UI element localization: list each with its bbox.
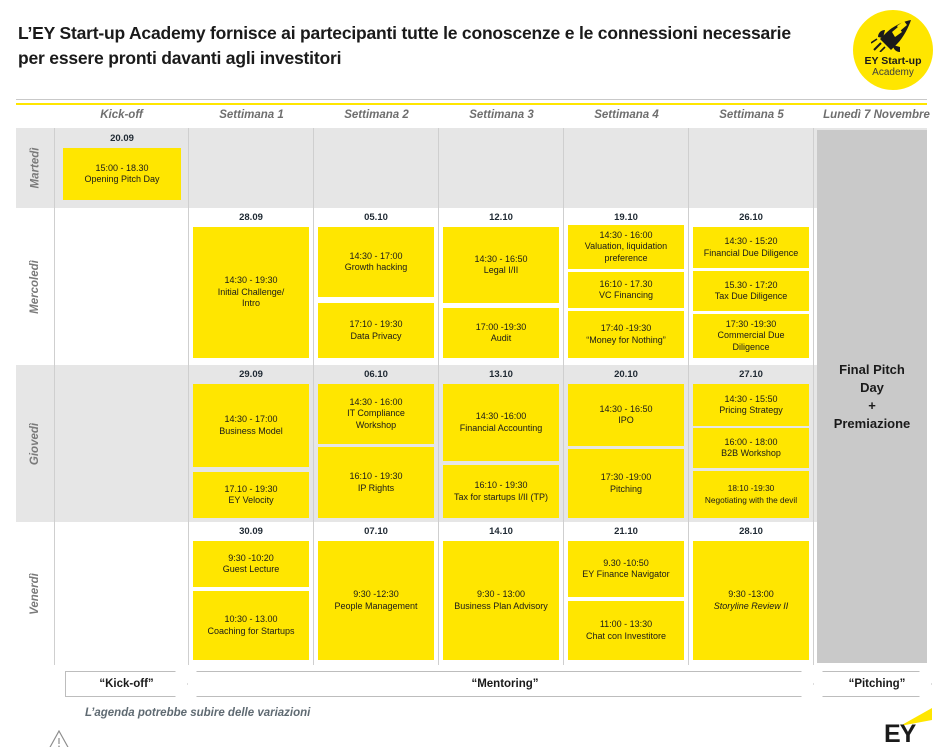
event-name: Valuation, liquidation	[585, 241, 667, 253]
event-time: 14:30 - 15:20	[724, 236, 777, 248]
event-pitching[interactable]: 17:30 -19:00 Pitching	[568, 449, 684, 518]
event-tax-due-diligence[interactable]: 15.30 - 17:20 Tax Due Diligence	[693, 271, 809, 311]
event-time: 9:30 -12:30	[353, 589, 399, 601]
schedule-grid: Martedì Mercoledì Giovedì Venerdì 20.09 …	[16, 128, 927, 665]
colhead-settimana-1: Settimana 1	[189, 106, 314, 128]
date-venerdi-w4: 21.10	[568, 525, 684, 539]
event-name: Data Privacy	[350, 331, 401, 343]
event-name: Negotiating with the devil	[705, 495, 797, 507]
event-coaching-for-startups[interactable]: 10:30 - 13.00 Coaching for Startups	[193, 591, 309, 660]
day-label-martedi-text: Martedì	[29, 148, 41, 189]
date-giovedi-w3: 13.10	[443, 368, 559, 382]
date-martedi-kickoff: 20.09	[63, 132, 181, 146]
event-name-line2: Workshop	[356, 420, 396, 432]
event-name: Coaching for Startups	[207, 626, 294, 638]
event-growth-hacking[interactable]: 14:30 - 17:00 Growth hacking	[318, 227, 434, 297]
event-time: 17:30 -19:30	[726, 319, 777, 331]
header-divider	[16, 99, 927, 100]
header: L’EY Start-up Academy fornisce ai partec…	[0, 0, 943, 100]
event-time: 15:00 - 18.30	[95, 163, 148, 175]
event-time: 16:00 - 18:00	[724, 437, 777, 449]
date-giovedi-w2: 06.10	[318, 368, 434, 382]
date-giovedi-w5: 27.10	[693, 368, 809, 382]
date-venerdi-w1: 30.09	[193, 525, 309, 539]
date-venerdi-w2: 07.10	[318, 525, 434, 539]
gridline-0	[54, 128, 55, 665]
event-money-for-nothing[interactable]: 17:40 -19:30 “Money for Nothing”	[568, 311, 684, 358]
event-time: 14:30 - 16:50	[474, 254, 527, 266]
event-ey-finance-navigator[interactable]: 9.30 -10:50 EY Finance Navigator	[568, 541, 684, 597]
event-name-line2: Intro	[242, 298, 260, 310]
event-name: Business Plan Advisory	[454, 601, 548, 613]
event-name: Tax for startups I/II (TP)	[454, 492, 548, 504]
colhead-settimana-3: Settimana 3	[439, 106, 564, 128]
event-name: Initial Challenge/	[218, 287, 285, 299]
event-financial-accounting[interactable]: 14:30 -16:00 Financial Accounting	[443, 384, 559, 461]
agenda-disclaimer: L’agenda potrebbe subire delle variazion…	[85, 707, 310, 719]
event-name: Financial Due Diligence	[704, 248, 799, 260]
event-name: Commercial Due	[717, 330, 784, 342]
final-pitch-day-text: Final Pitch Day + Premiazione	[834, 361, 911, 433]
event-time: 17:10 - 19:30	[349, 319, 402, 331]
event-ip-rights[interactable]: 16:10 - 19:30 IP Rights	[318, 447, 434, 518]
event-time: 16:10 - 19:30	[349, 471, 402, 483]
event-name: Opening Pitch Day	[84, 174, 159, 186]
slide-root: L’EY Start-up Academy fornisce ai partec…	[0, 0, 943, 747]
date-mercoledi-w4: 19.10	[568, 211, 684, 225]
event-time: 11:00 - 13:30	[600, 619, 652, 631]
header-accent-rule	[16, 103, 927, 105]
event-time: 14:30 - 17:00	[349, 251, 402, 263]
event-name: Financial Accounting	[460, 423, 543, 435]
day-label-giovedi-text: Giovedì	[29, 422, 41, 464]
event-time: 17:00 -19:30	[476, 322, 527, 334]
gridline-6	[813, 128, 814, 665]
day-label-martedi: Martedì	[16, 128, 54, 208]
event-storyline-review-ii[interactable]: 9:30 -13:00 Storyline Review II	[693, 541, 809, 660]
event-name: “Money for Nothing”	[586, 335, 666, 347]
event-name: Legal I/II	[484, 265, 519, 277]
event-time: 14:30 - 17:00	[224, 414, 277, 426]
event-name-line2: Diligence	[732, 342, 769, 354]
event-name: Pricing Strategy	[719, 405, 783, 417]
phase-chevron-pitching[interactable]: “Pitching”	[822, 671, 932, 697]
event-time: 14:30 - 15:50	[724, 394, 777, 406]
event-name: Business Model	[219, 426, 283, 438]
event-initial-challenge-intro[interactable]: 14:30 - 19:30 Initial Challenge/ Intro	[193, 227, 309, 358]
event-legal-i-ii[interactable]: 14:30 - 16:50 Legal I/II	[443, 227, 559, 303]
event-people-management[interactable]: 9:30 -12:30 People Management	[318, 541, 434, 660]
logo-line-2: Academy	[872, 67, 914, 79]
event-name: IT Compliance	[347, 408, 405, 420]
event-data-privacy[interactable]: 17:10 - 19:30 Data Privacy	[318, 303, 434, 358]
colhead-settimana-4: Settimana 4	[564, 106, 689, 128]
event-name: B2B Workshop	[721, 448, 781, 460]
event-negotiating-with-the-devil[interactable]: 18:10 -19:30 Negotiating with the devil	[693, 471, 809, 518]
date-mercoledi-w3: 12.10	[443, 211, 559, 225]
event-guest-lecture[interactable]: 9:30 -10:20 Guest Lecture	[193, 541, 309, 587]
event-time: 15.30 - 17:20	[724, 280, 777, 292]
date-mercoledi-w1: 28.09	[193, 211, 309, 225]
colhead-settimana-5: Settimana 5	[689, 106, 814, 128]
event-commercial-due-diligence[interactable]: 17:30 -19:30 Commercial Due Diligence	[693, 314, 809, 358]
event-name: EY Velocity	[228, 495, 273, 507]
event-name: IP Rights	[358, 483, 394, 495]
page-title: L’EY Start-up Academy fornisce ai partec…	[18, 21, 808, 71]
day-label-mercoledi: Mercoledì	[16, 208, 54, 365]
event-business-plan-advisory[interactable]: 9:30 - 13:00 Business Plan Advisory	[443, 541, 559, 660]
event-time: 9:30 -13:00	[728, 589, 774, 601]
event-time: 18:10 -19:30	[728, 483, 775, 495]
gridline-5	[688, 128, 689, 665]
date-mercoledi-w2: 05.10	[318, 211, 434, 225]
event-time: 16:10 - 19:30	[474, 480, 527, 492]
gridline-1	[188, 128, 189, 665]
event-name: Growth hacking	[345, 262, 408, 274]
final-line-3: +	[834, 397, 911, 415]
colhead-kickoff: Kick-off	[54, 106, 189, 128]
event-valuation-liquidation-preference[interactable]: 14:30 - 16:00 Valuation, liquidation pre…	[568, 225, 684, 269]
event-name: VC Financing	[599, 290, 653, 302]
event-name: People Management	[334, 601, 417, 613]
event-time: 17:30 -19:00	[601, 472, 652, 484]
event-time: 17.10 - 19:30	[224, 484, 277, 496]
final-line-2: Day	[834, 379, 911, 397]
event-time: 16:10 - 17.30	[599, 279, 652, 291]
rocket-icon	[871, 18, 915, 52]
gridline-4	[563, 128, 564, 665]
colhead-settimana-2: Settimana 2	[314, 106, 439, 128]
event-chat-con-investitore[interactable]: 11:00 - 13:30 Chat con Investitore	[568, 601, 684, 660]
phase-chevron-mentoring[interactable]: “Mentoring”	[196, 671, 814, 697]
event-financial-due-diligence[interactable]: 14:30 - 15:20 Financial Due Diligence	[693, 227, 809, 268]
event-name-line2: preference	[604, 253, 647, 265]
event-time: 9:30 -10:20	[228, 553, 274, 565]
event-time: 9.30 -10:50	[603, 558, 649, 570]
gridline-3	[438, 128, 439, 665]
event-name: Tax Due Diligence	[715, 291, 788, 303]
gridline-2	[313, 128, 314, 665]
event-time: 14:30 - 19:30	[224, 275, 277, 287]
day-label-venerdi: Venerdì	[16, 522, 54, 665]
event-time: 14:30 - 16:50	[599, 404, 652, 416]
event-time: 14:30 - 16:00	[599, 230, 652, 242]
event-ey-velocity[interactable]: 17.10 - 19:30 EY Velocity	[193, 472, 309, 518]
ey-startup-academy-logo: EY Start-up Academy	[853, 10, 933, 90]
event-name: Guest Lecture	[223, 564, 280, 576]
event-tax-for-startups[interactable]: 16:10 - 19:30 Tax for startups I/II (TP)	[443, 465, 559, 518]
event-time: 9:30 - 13:00	[477, 589, 525, 601]
date-giovedi-w4: 20.10	[568, 368, 684, 382]
colhead-final-day: Lunedì 7 Novembre	[814, 106, 939, 128]
phase-chevron-kickoff[interactable]: “Kick-off”	[65, 671, 188, 697]
event-ipo[interactable]: 14:30 - 16:50 IPO	[568, 384, 684, 446]
date-venerdi-w3: 14.10	[443, 525, 559, 539]
event-time: 14:30 -16:00	[476, 411, 527, 423]
day-label-mercoledi-text: Mercoledì	[29, 260, 41, 314]
day-label-giovedi: Giovedì	[16, 365, 54, 522]
date-mercoledi-w5: 26.10	[693, 211, 809, 225]
date-giovedi-w1: 29.09	[193, 368, 309, 382]
day-label-venerdi-text: Venerdì	[29, 573, 41, 615]
event-name: Audit	[491, 333, 512, 345]
event-time: 17:40 -19:30	[601, 323, 652, 335]
logo-line-1: EY Start-up	[865, 55, 922, 67]
event-business-model[interactable]: 14:30 - 17:00 Business Model	[193, 384, 309, 467]
event-time: 10:30 - 13.00	[224, 614, 277, 626]
event-b2b-workshop[interactable]: 16:00 - 18:00 B2B Workshop	[693, 428, 809, 468]
event-name: EY Finance Navigator	[582, 569, 669, 581]
event-it-compliance-workshop[interactable]: 14:30 - 16:00 IT Compliance Workshop	[318, 384, 434, 444]
event-audit[interactable]: 17:00 -19:30 Audit	[443, 308, 559, 358]
warning-icon	[48, 730, 70, 747]
ey-brand-text: EY	[884, 722, 915, 747]
column-header-row: Kick-off Settimana 1 Settimana 2 Settima…	[0, 106, 943, 128]
event-name: Storyline Review II	[714, 601, 789, 613]
event-name: Pitching	[610, 484, 642, 496]
final-pitch-day-cell[interactable]: Final Pitch Day + Premiazione	[817, 130, 927, 663]
event-name: Chat con Investitore	[586, 631, 666, 643]
final-line-4: Premiazione	[834, 415, 911, 433]
event-opening-pitch-day[interactable]: 15:00 - 18.30 Opening Pitch Day	[63, 148, 181, 200]
final-line-1: Final Pitch	[834, 361, 911, 379]
date-venerdi-w5: 28.10	[693, 525, 809, 539]
event-pricing-strategy[interactable]: 14:30 - 15:50 Pricing Strategy	[693, 384, 809, 426]
event-time: 14:30 - 16:00	[349, 397, 402, 409]
event-name: IPO	[618, 415, 634, 427]
event-vc-financing[interactable]: 16:10 - 17.30 VC Financing	[568, 272, 684, 308]
